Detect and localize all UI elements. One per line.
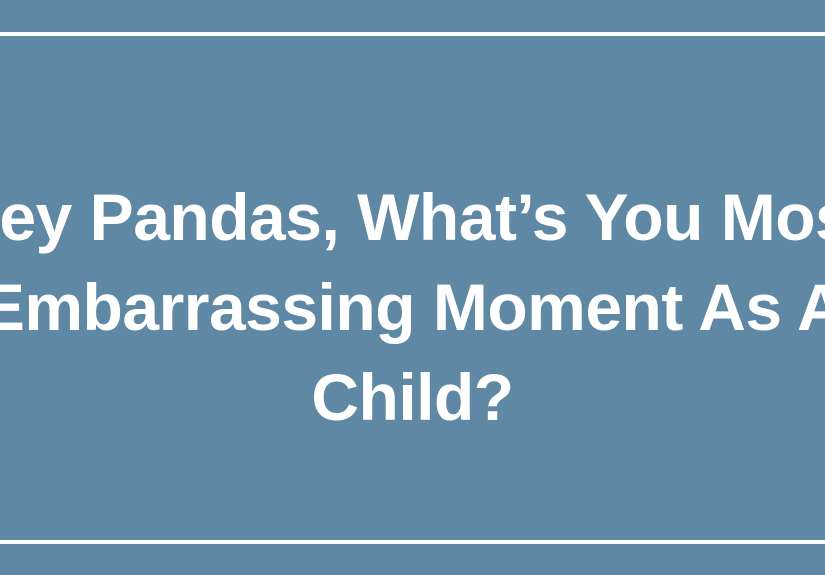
- page-title: Hey Pandas, What’s You Most Embarrassing…: [0, 172, 825, 442]
- bottom-divider-rule: [0, 540, 825, 544]
- title-card: Hey Pandas, What’s You Most Embarrassing…: [0, 0, 825, 575]
- top-divider-rule: [0, 32, 825, 36]
